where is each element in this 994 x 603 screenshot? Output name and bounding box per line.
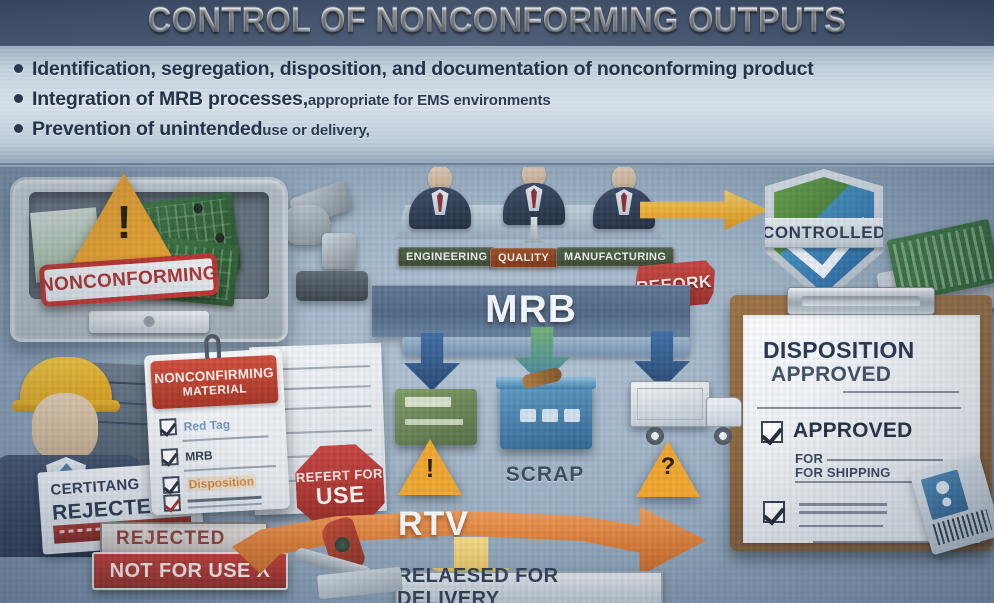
scrap-bin-icon: [500, 383, 592, 449]
bullet-text: Integration of MRB processes,: [32, 88, 308, 111]
disposition-subtitle: APPROVED: [771, 363, 891, 387]
divider: [813, 541, 933, 543]
tag-ruled-line: [184, 465, 276, 472]
tag-ruled-line: [188, 503, 262, 509]
mrb-member-engineering: [408, 167, 472, 227]
dept-tag-quality-label: QUALITY: [498, 252, 549, 264]
approved-label: APPROVED: [793, 419, 912, 443]
released-label: RELAESED FOR DELIVERY: [397, 565, 661, 603]
bullet-item: Prevention of unintended use or delivery…: [14, 118, 814, 141]
tool-bracket-icon: [322, 233, 356, 269]
bullet-text: Prevention of unintended: [32, 118, 262, 141]
mrb-member-quality: [502, 167, 566, 223]
tag-item-label: Disposition: [186, 474, 256, 492]
question-triangle-icon: ?: [636, 441, 700, 499]
divider: [799, 511, 887, 514]
bullet-text-tail: appropriate for EMS environments: [308, 92, 551, 109]
bullet-list: Identification, segregation, disposition…: [14, 58, 814, 148]
tag-checklist-item: [163, 494, 181, 512]
checkbox-secondary[interactable]: [763, 501, 785, 523]
checkbox-approved[interactable]: [761, 421, 783, 443]
tag-item-label: MRB: [185, 448, 213, 463]
divider: [757, 407, 961, 409]
summary-panel: Identification, segregation, disposition…: [0, 46, 994, 165]
title-band: CONTROL OF NONCONFORMING OUTPUTS: [0, 0, 994, 46]
dept-tag-engineering-label: ENGINEERING: [406, 251, 487, 263]
page-title: CONTROL OF NONCONFORMING OUTPUTS: [35, 1, 959, 41]
dept-tag-manufacturing: MANUFACTURING: [556, 247, 674, 267]
bullet-item: Integration of MRB processes, appropriat…: [14, 88, 814, 111]
note-line-2: FOR SHIPPING: [795, 465, 891, 480]
infographic-page: CONTROL OF NONCONFORMING OUTPUTS Identif…: [0, 0, 994, 603]
mrb-heading: MRB: [372, 288, 690, 332]
bullet-dot-icon: [14, 94, 23, 103]
tag-item-label: Red Tag: [183, 417, 230, 433]
checkbox-checked-icon[interactable]: [159, 418, 177, 436]
rejected-label-text: REJECTED: [116, 528, 225, 550]
badge-photo-icon: [921, 469, 969, 520]
hammer-tool-icon: [300, 519, 410, 589]
bullet-text: Identification, segregation, disposition…: [32, 58, 814, 81]
tag-checklist-item: Red Tag: [159, 415, 230, 436]
bullet-dot-icon: [14, 124, 23, 133]
disposition-title: DISPOSITION: [763, 337, 915, 364]
dept-tag-manufacturing-label: MANUFACTURING: [564, 251, 666, 263]
controlled-ribbon: CONTROLLED: [751, 218, 897, 248]
released-for-delivery-sign: RELAESED FOR DELIVERY: [395, 571, 663, 603]
dept-tag-engineering: ENGINEERING: [398, 247, 495, 267]
clipboard-clip: [787, 287, 935, 315]
tag-ruled-line: [182, 435, 268, 441]
tag-checklist-item: MRB: [161, 446, 213, 466]
cert-line-1: CERTITANG: [50, 476, 140, 499]
bullet-text-tail: use or delivery,: [262, 122, 369, 139]
warning-triangle-icon: !: [398, 439, 462, 497]
checkbox-checked-icon[interactable]: [161, 448, 179, 466]
worker-head: [32, 393, 98, 463]
tag-title-line2: MATERIAL: [182, 381, 247, 398]
controlled-label: CONTROLLED: [762, 223, 886, 243]
tag-header: NONCONFIRMING MATERIAL: [150, 355, 278, 410]
controlled-shield-badge: CONTROLLED: [765, 169, 883, 303]
nonconforming-material-tag: NONCONFIRMING MATERIAL Red Tag MRB Dispo…: [144, 348, 290, 515]
divider: [827, 459, 943, 461]
gold-right-arrow-icon: [640, 189, 768, 231]
bullet-dot-icon: [14, 64, 23, 73]
not-for-use-text: NOT FOR USE X: [110, 560, 271, 583]
bullet-item: Identification, segregation, disposition…: [14, 58, 814, 81]
divider: [799, 503, 887, 506]
stop-sign-line2: USE: [315, 482, 365, 509]
checkbox-checked-icon[interactable]: [163, 494, 181, 512]
tag-checklist-item: Disposition: [162, 472, 256, 494]
bin-handle: [89, 311, 209, 333]
checkbox-checked-icon[interactable]: [162, 476, 180, 494]
dept-tag-quality: QUALITY: [490, 248, 557, 268]
divider: [843, 391, 959, 393]
use-as-is-box-icon: [395, 389, 477, 445]
tool-keyboard-icon: [296, 271, 368, 301]
nonconforming-label-text: NONCONFORMING: [39, 263, 218, 297]
illustration-scene: ! NONCONFORMING CERTITANG: [0, 167, 994, 603]
scrap-caption: SCRAP: [470, 463, 620, 487]
tag-ruled-line: [187, 496, 261, 503]
note-line-1: FOR: [795, 451, 823, 466]
divider: [799, 525, 883, 527]
return-to-vendor-truck-icon: [630, 381, 746, 447]
